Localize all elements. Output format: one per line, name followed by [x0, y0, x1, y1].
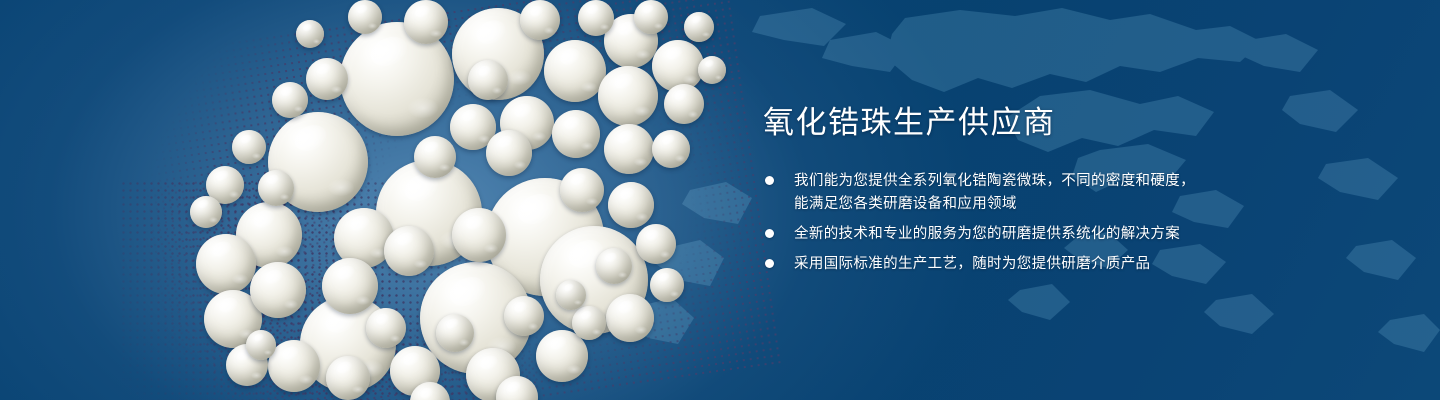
list-item-label: 全新的技术和专业的服务为您的研磨提供系统化的解决方案 — [794, 223, 1323, 246]
list-item-label: 采用国际标准的生产工艺，随时为您提供研磨介质产品 — [794, 253, 1323, 276]
feature-list: 我们能为您提供全系列氧化锆陶瓷微珠，不同的密度和硬度， 能满足您各类研磨设备和应… — [763, 170, 1323, 276]
bullet-dot-icon — [765, 259, 774, 268]
list-item: 采用国际标准的生产工艺，随时为您提供研磨介质产品 — [763, 253, 1323, 276]
list-item: 我们能为您提供全系列氧化锆陶瓷微珠，不同的密度和硬度， 能满足您各类研磨设备和应… — [763, 170, 1323, 216]
list-item: 全新的技术和专业的服务为您的研磨提供系统化的解决方案 — [763, 223, 1323, 246]
hero-banner: 氧化锆珠生产供应商 我们能为您提供全系列氧化锆陶瓷微珠，不同的密度和硬度， 能满… — [0, 0, 1440, 400]
bullet-dot-icon — [765, 229, 774, 238]
list-item-label: 我们能为您提供全系列氧化锆陶瓷微珠，不同的密度和硬度， — [794, 170, 1323, 193]
bullet-dot-icon — [765, 176, 774, 185]
banner-text-block: 氧化锆珠生产供应商 我们能为您提供全系列氧化锆陶瓷微珠，不同的密度和硬度， 能满… — [763, 104, 1323, 283]
list-item-label-continued: 能满足您各类研磨设备和应用领域 — [794, 193, 1323, 216]
page-title: 氧化锆珠生产供应商 — [763, 104, 1323, 141]
